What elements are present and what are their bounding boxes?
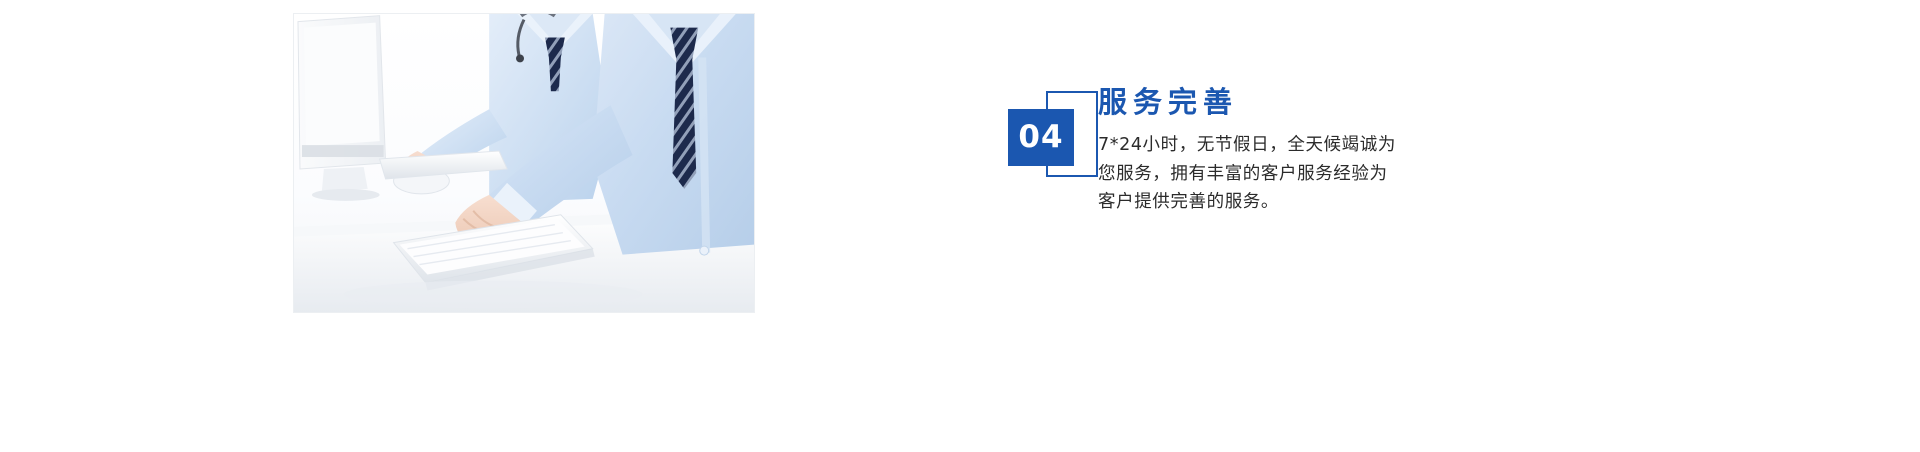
feature-description: 7*24小时，无节假日，全天候竭诚为 您服务，拥有丰富的客户服务经验为 客户提供… [1098,131,1490,216]
badge-filled-square: 04 [1008,109,1074,166]
feature-info: 04 服务完善 7*24小时，无节假日，全天候竭诚为 您服务，拥有丰富的客户服务… [1008,86,1508,266]
feature-photo-frame [293,13,755,313]
feature-title: 服务完善 [1098,86,1518,119]
description-line: 您服务，拥有丰富的客户服务经验为 [1098,160,1490,188]
feature-text-group: 服务完善 7*24小时，无节假日，全天候竭诚为 您服务，拥有丰富的客户服务经验为… [1098,86,1518,216]
description-line: 7*24小时，无节假日，全天候竭诚为 [1098,131,1490,159]
feature-banner: 04 服务完善 7*24小时，无节假日，全天候竭诚为 您服务，拥有丰富的客户服务… [0,0,1920,452]
description-line: 客户提供完善的服务。 [1098,188,1490,216]
feature-number-badge: 04 [1008,91,1098,186]
customer-service-photo [294,14,754,312]
feature-number: 04 [1018,122,1063,153]
